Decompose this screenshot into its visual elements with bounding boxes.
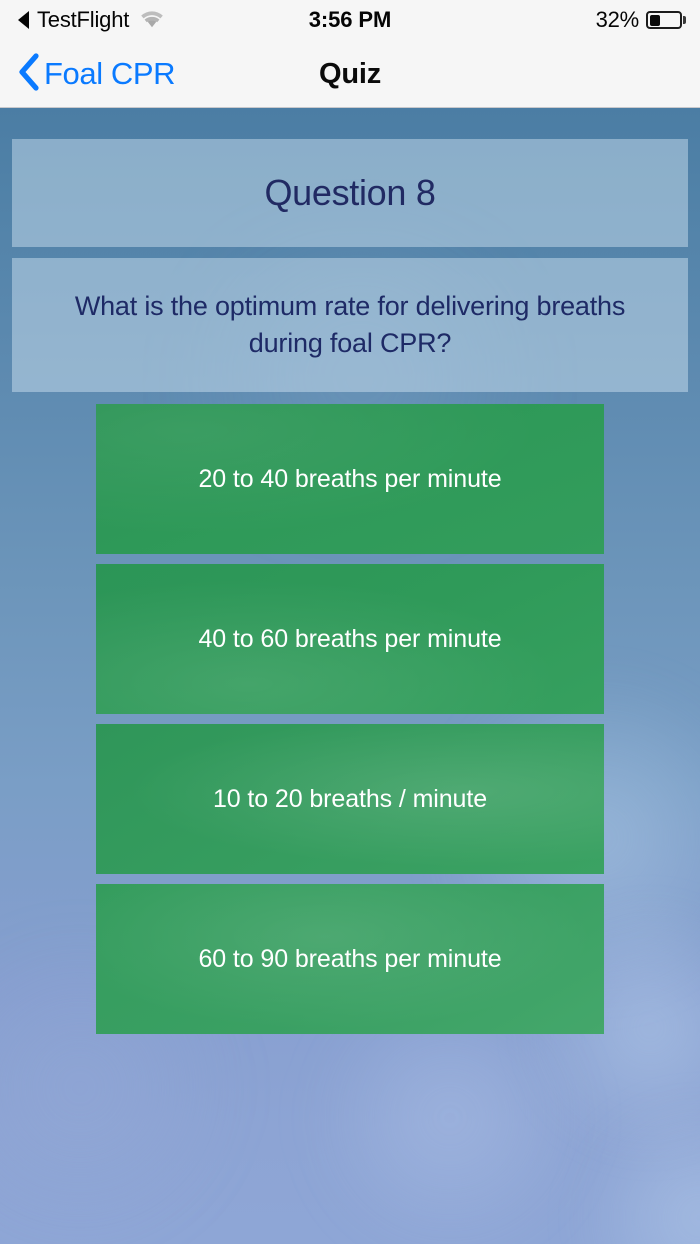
background-blob	[560, 1108, 700, 1244]
question-text-card: What is the optimum rate for delivering …	[12, 258, 688, 392]
answer-option-label: 60 to 90 breaths per minute	[198, 945, 501, 974]
answer-option-label: 10 to 20 breaths / minute	[213, 785, 487, 814]
answer-option-label: 40 to 60 breaths per minute	[198, 625, 501, 654]
page-title: Quiz	[0, 40, 700, 108]
answer-option-button[interactable]: 10 to 20 breaths / minute	[96, 724, 604, 874]
status-bar: TestFlight 3:56 PM 32%	[0, 0, 700, 40]
answer-option-button[interactable]: 40 to 60 breaths per minute	[96, 564, 604, 714]
navigation-bar: Foal CPR Quiz	[0, 40, 700, 108]
battery-percent-label: 32%	[596, 7, 639, 33]
answer-option-button[interactable]: 20 to 40 breaths per minute	[96, 404, 604, 554]
answer-option-button[interactable]: 60 to 90 breaths per minute	[96, 884, 604, 1034]
battery-icon	[646, 11, 686, 29]
answer-option-label: 20 to 40 breaths per minute	[198, 465, 501, 494]
question-number-card: Question 8	[12, 139, 688, 247]
quiz-content-area: Question 8 What is the optimum rate for …	[0, 108, 700, 1244]
question-number-label: Question 8	[264, 172, 435, 214]
question-text: What is the optimum rate for delivering …	[38, 288, 662, 362]
phone-screen: TestFlight 3:56 PM 32%	[0, 0, 700, 1244]
status-bar-battery-group: 32%	[596, 7, 686, 33]
